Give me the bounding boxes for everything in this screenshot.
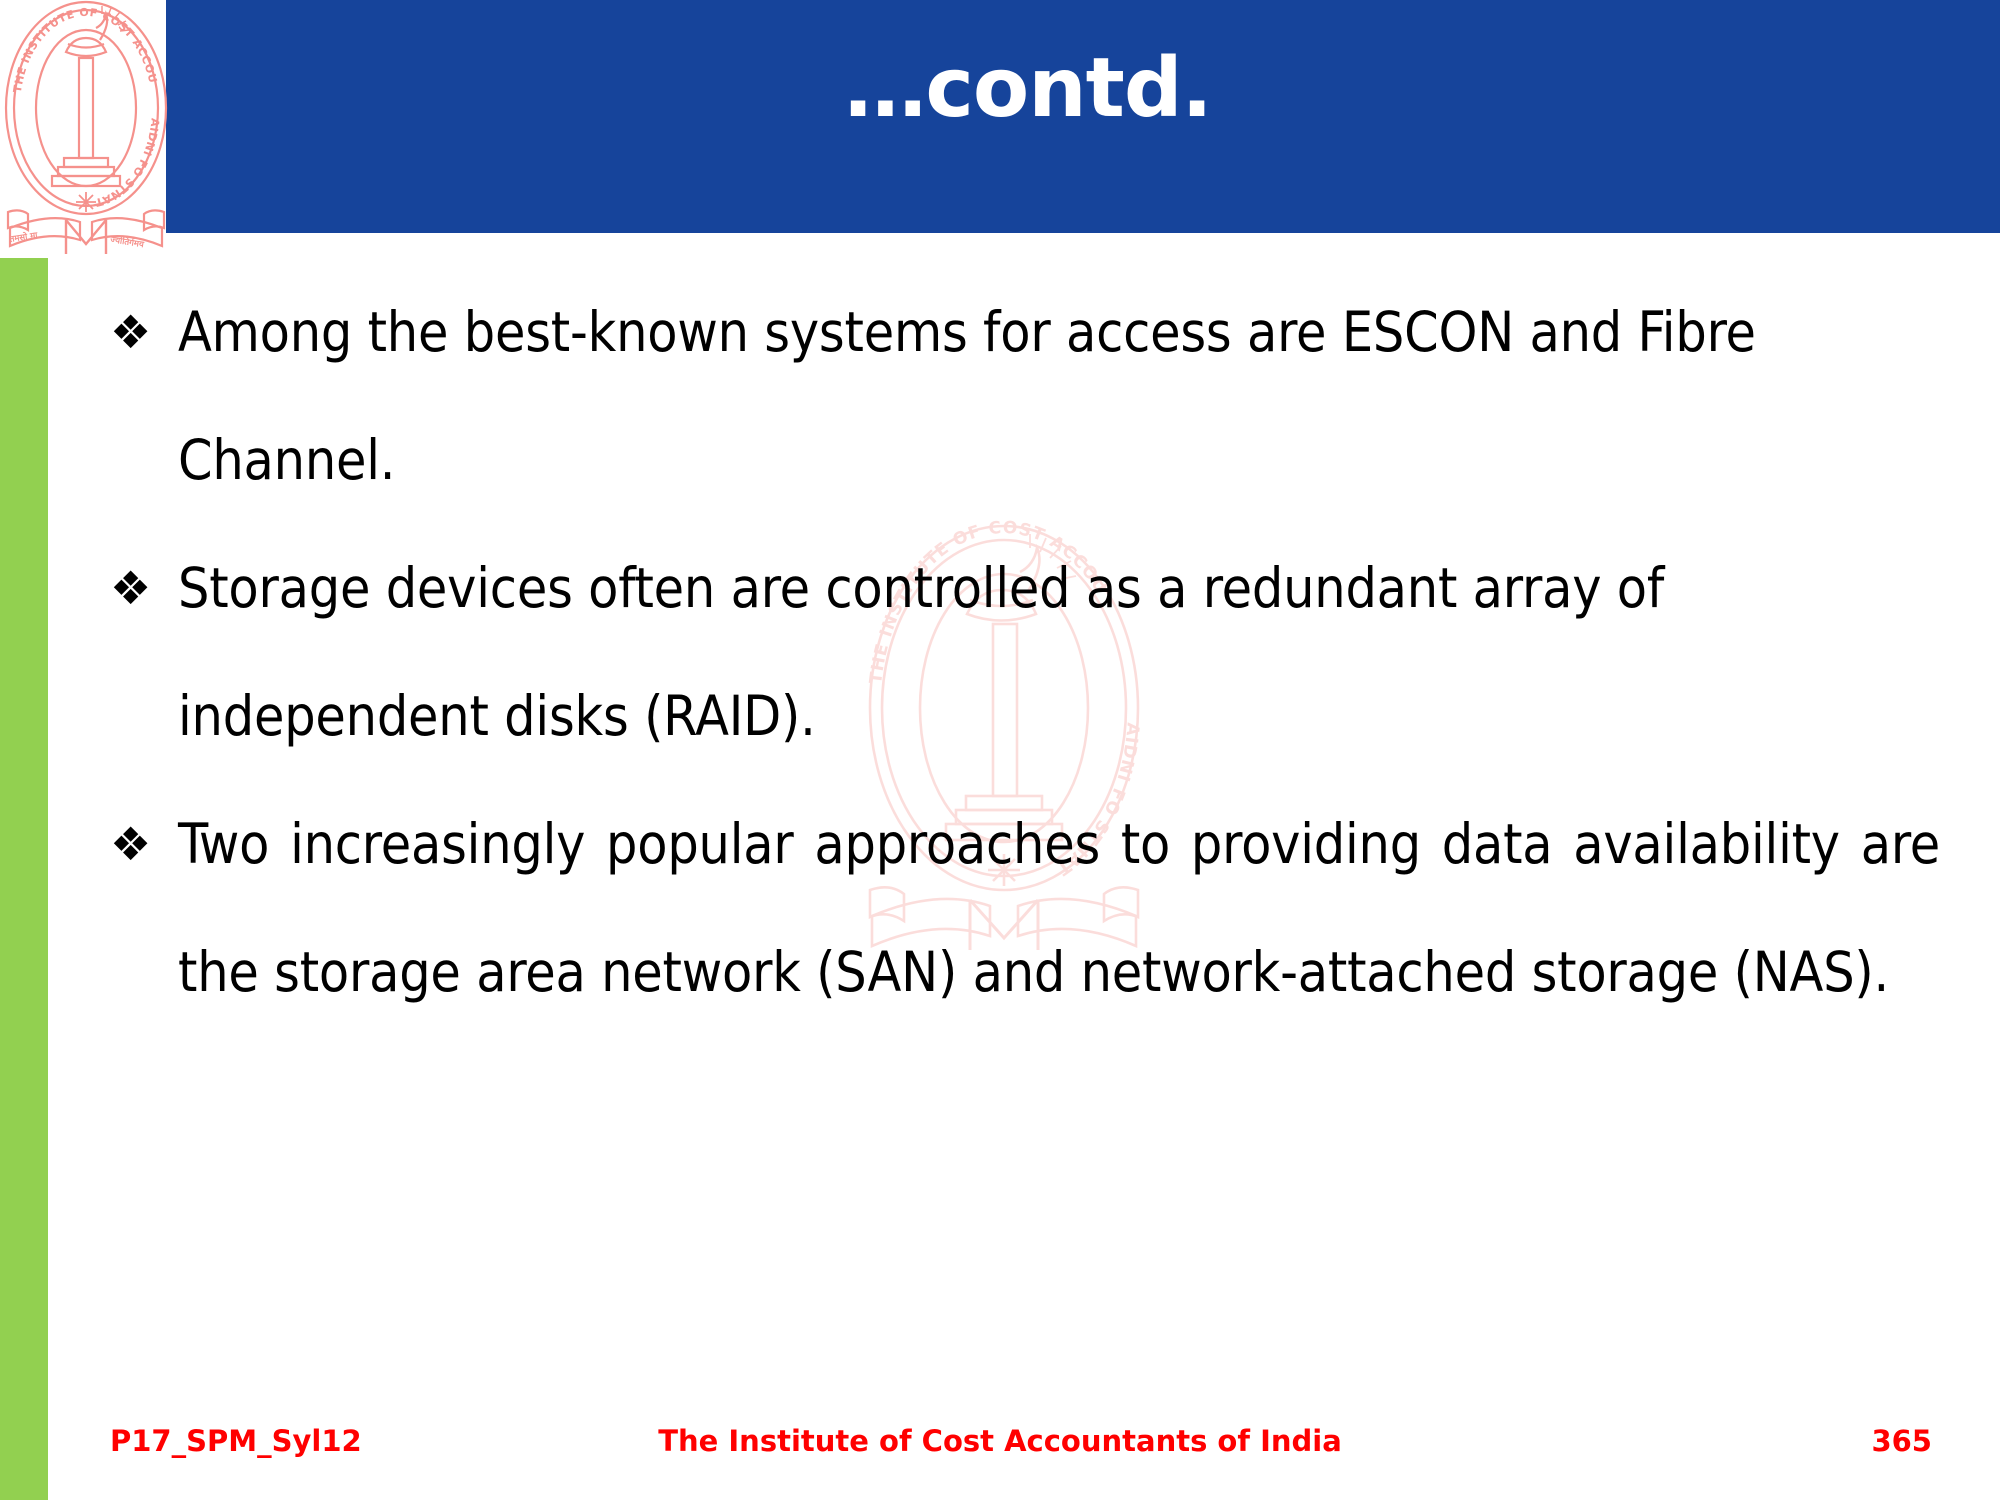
diamond-bullet-icon: ❖ [110, 780, 178, 908]
title-bar: …contd. [166, 0, 2000, 233]
list-item: ❖ Storage devices often are controlled a… [110, 524, 1940, 780]
left-accent-band [0, 258, 48, 1500]
list-item: ❖ Two increasingly popular approaches to… [110, 780, 1940, 1036]
footer-page-number: 365 [1871, 1424, 1932, 1458]
bullet-text-3: Two increasingly popular approaches to p… [178, 780, 1940, 1036]
svg-text:AIDNI FO STNAT: AIDNI FO STNAT [94, 118, 162, 210]
slide-canvas: …contd. [0, 0, 2000, 1500]
list-item: ❖ Among the best-known systems for acces… [110, 268, 1940, 524]
bullet-list: ❖ Among the best-known systems for acces… [110, 268, 1940, 1036]
slide-footer: P17_SPM_Syl12 The Institute of Cost Acco… [0, 1418, 2000, 1470]
diamond-bullet-icon: ❖ [110, 268, 178, 396]
bullet-text-1: Among the best-known systems for access … [178, 268, 1940, 524]
page-title: …contd. [166, 48, 2000, 130]
svg-text:तमसो मा: तमसो मा [8, 230, 39, 246]
svg-text:THE INSTITUTE OF COST ACCOU: THE INSTITUTE OF COST ACCOU [11, 6, 160, 94]
bullet-text-2: Storage devices often are controlled as … [178, 524, 1940, 780]
institute-logo-icon: तमसो मा ज्योतिर्गमय THE INSTITUTE OF COS… [2, 0, 170, 258]
footer-organisation: The Institute of Cost Accountants of Ind… [0, 1424, 2000, 1458]
diamond-bullet-icon: ❖ [110, 524, 178, 652]
